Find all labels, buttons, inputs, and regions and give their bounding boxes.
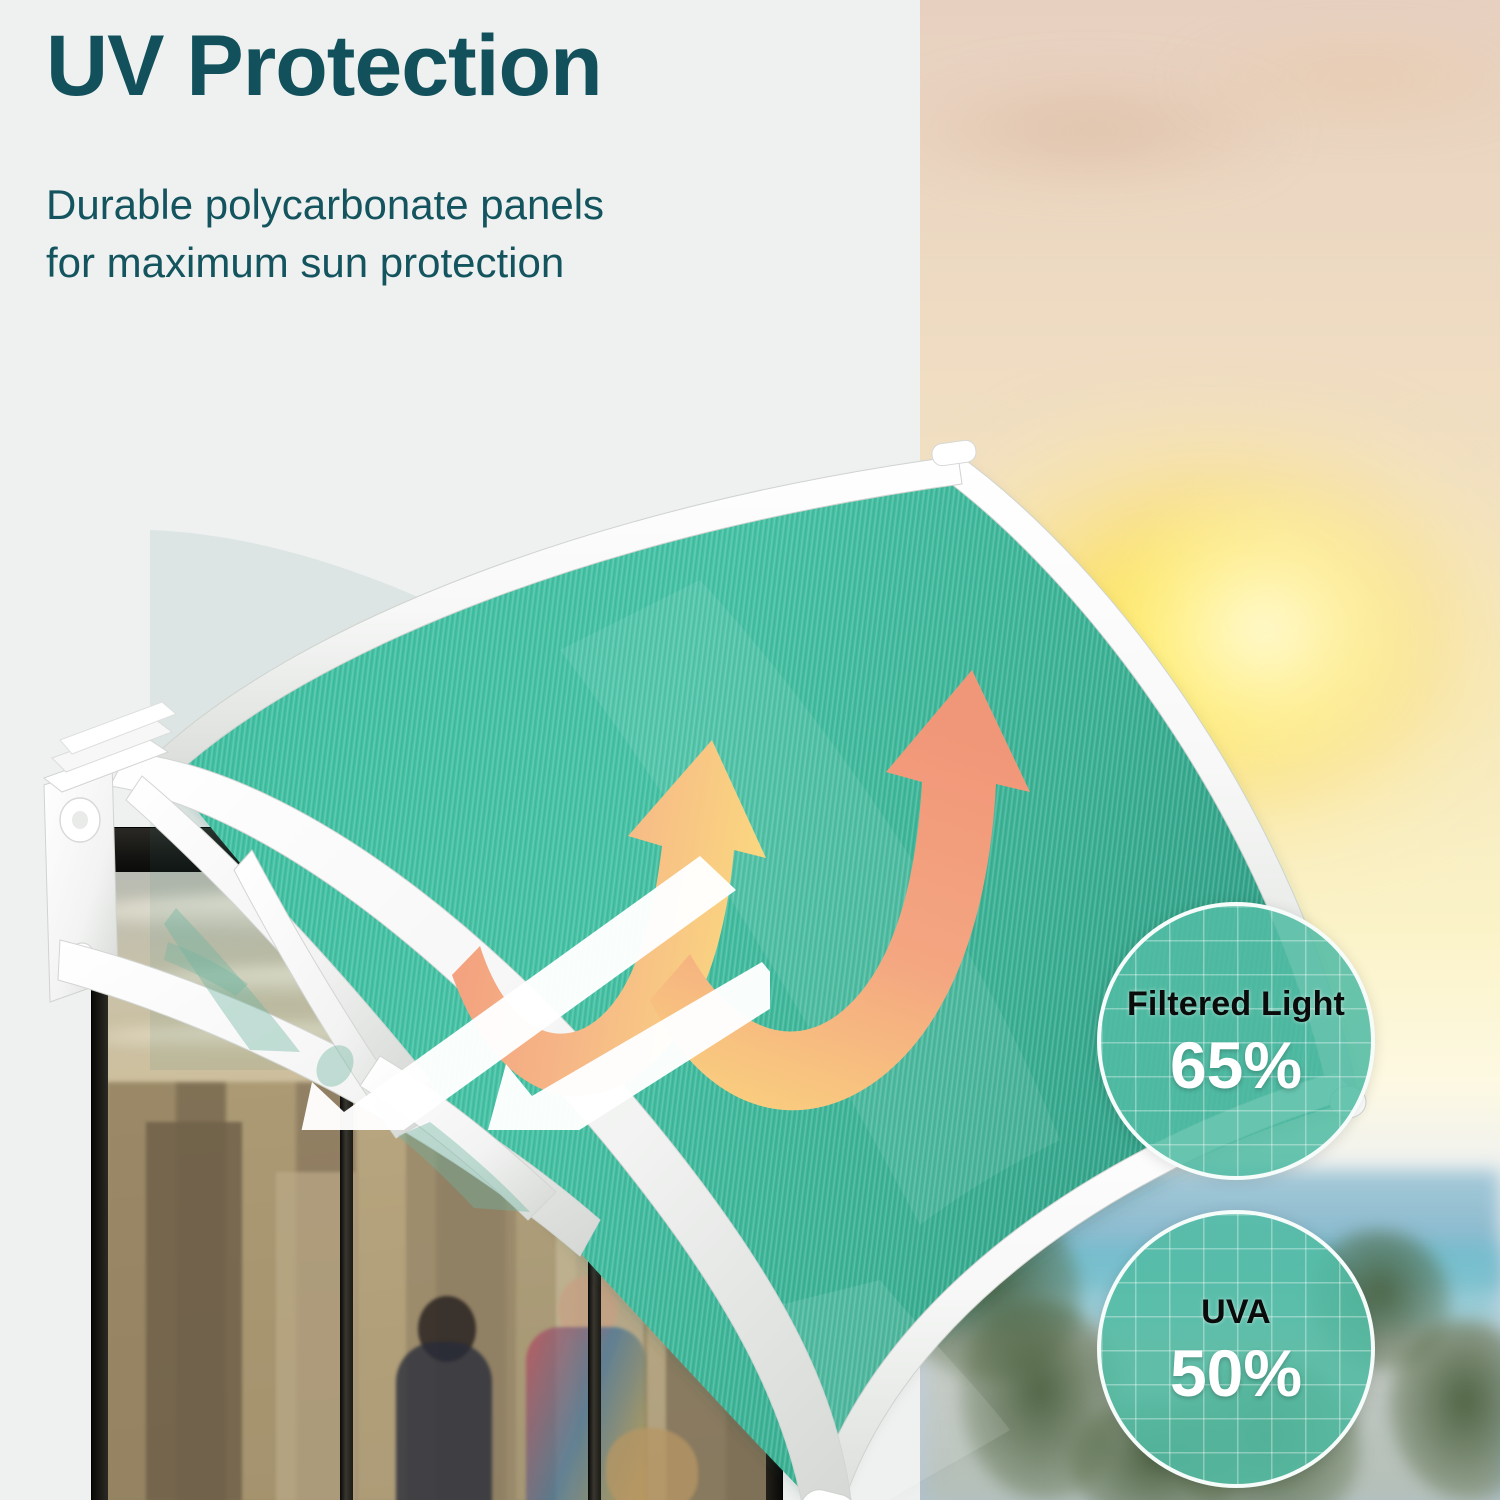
subtitle-line-2: for maximum sun protection: [46, 234, 604, 292]
panel-end-cap-top: [931, 439, 978, 467]
badge-label: Filtered Light: [1127, 985, 1345, 1024]
page-title: UV Protection: [46, 22, 602, 111]
badge-uva[interactable]: UVA 50%: [1097, 1210, 1375, 1488]
subtitle-line-1: Durable polycarbonate panels: [46, 176, 604, 234]
reflected-building: [146, 1122, 242, 1500]
page-subtitle: Durable polycarbonate panels for maximum…: [46, 176, 604, 292]
product-feature-graphic: UV Protection Durable polycarbonate pane…: [0, 0, 1500, 1500]
filtered-light-arrows: [250, 850, 770, 1130]
badge-filtered-light[interactable]: Filtered Light 65%: [1097, 902, 1375, 1180]
badge-label: UVA: [1201, 1293, 1271, 1332]
person-body: [396, 1342, 492, 1500]
badge-value: 50%: [1170, 1340, 1302, 1406]
badge-value: 65%: [1170, 1032, 1302, 1098]
